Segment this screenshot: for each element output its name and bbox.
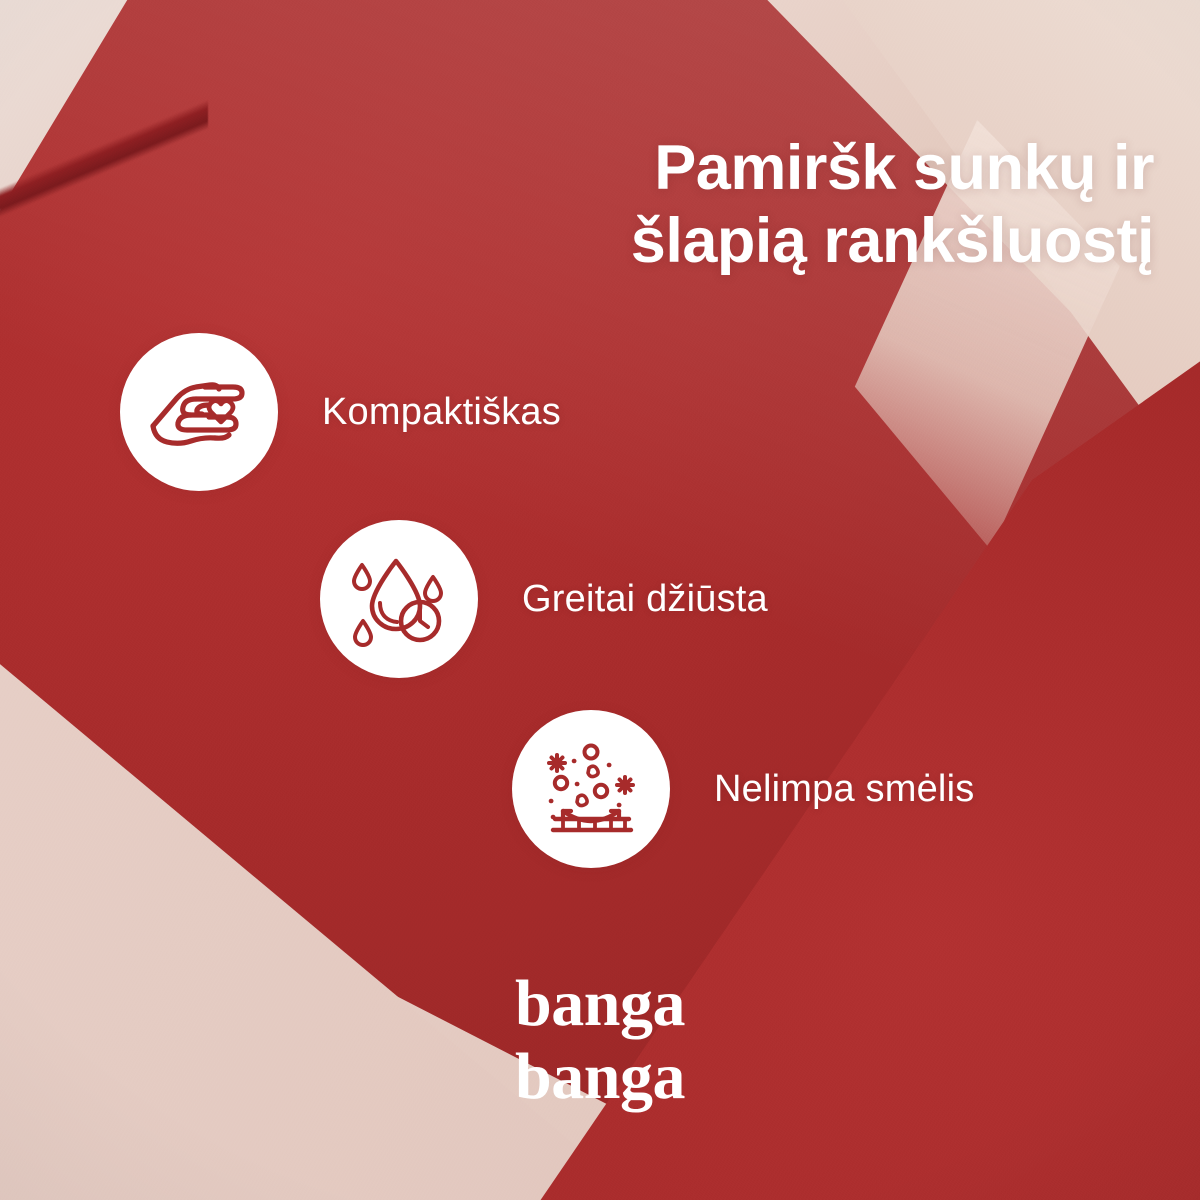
feature-label: Kompaktiškas bbox=[322, 391, 561, 434]
brand-logo-line-1: banga bbox=[0, 968, 1200, 1039]
feature-icon-badge bbox=[320, 520, 478, 678]
sand-repel-surface-icon bbox=[541, 739, 641, 839]
hand-holding-heart-icon bbox=[147, 366, 251, 458]
feature-icon-badge bbox=[120, 333, 278, 491]
feature-item-compact: Kompaktiškas bbox=[120, 333, 561, 491]
water-drop-clock-icon bbox=[349, 549, 449, 649]
page-title: Pamiršk sunkų ir šlapią rankšluostį bbox=[0, 132, 1154, 278]
promo-graphic: Pamiršk sunkų ir šlapią rankšluostį bbox=[0, 0, 1200, 1200]
feature-label: Greitai džiūsta bbox=[522, 578, 768, 621]
brand-logo: banga banga bbox=[0, 968, 1200, 1113]
feature-item-fast-drying: Greitai džiūsta bbox=[320, 520, 768, 678]
feature-label: Nelimpa smėlis bbox=[714, 768, 974, 811]
brand-logo-line-2: banga bbox=[0, 1041, 1200, 1112]
feature-icon-badge bbox=[512, 710, 670, 868]
feature-item-sand-repellent: Nelimpa smėlis bbox=[512, 710, 974, 868]
